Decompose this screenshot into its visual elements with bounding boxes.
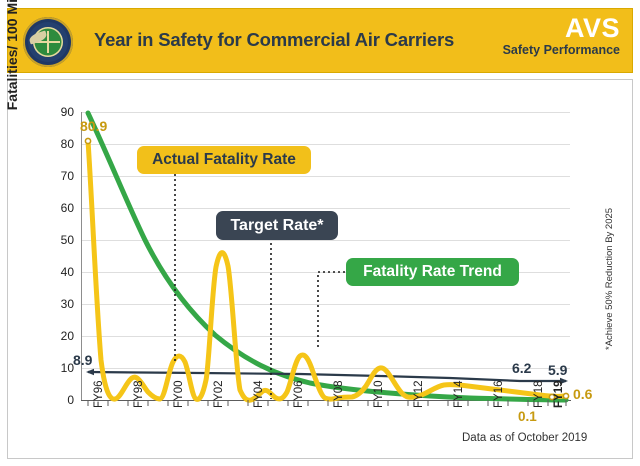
y-tick-label: 60 [44, 201, 74, 215]
x-tick-label-fy98: FY98 [133, 381, 145, 409]
chart-page: Year in Safety for Commercial Air Carrie… [0, 0, 640, 466]
x-tick-label-fy02: FY02 [213, 381, 225, 409]
y-tick-label: 90 [44, 105, 74, 119]
legend-chip-actual-fatality-rate[interactable]: Actual Fatality Rate [137, 146, 311, 174]
data-label-5-9: 5.9 [548, 362, 567, 378]
y-axis-title: Fatalities/ 100 Million Persons on Board [4, 0, 20, 118]
x-tick-label-fy00: FY00 [173, 381, 185, 409]
y-tick-label: 20 [44, 329, 74, 343]
right-footnote: *Achieve 50% Reduction By 2025 [604, 135, 615, 350]
avs-acronym: AVS [440, 13, 620, 43]
data-label-0-1: 0.1 [518, 409, 537, 424]
x-tick-label-fy06: FY06 [293, 381, 305, 409]
gridline [82, 240, 570, 241]
header-band: Year in Safety for Commercial Air Carrie… [7, 8, 633, 73]
gridline [82, 304, 570, 305]
data-label-8-9: 8.9 [73, 352, 92, 368]
x-tick-label-fy10: FY10 [373, 381, 385, 409]
gridline [82, 144, 570, 145]
page-title: Year in Safety for Commercial Air Carrie… [94, 29, 454, 51]
y-tick-label: 50 [44, 233, 74, 247]
gridline [82, 208, 570, 209]
y-tick-label: 70 [44, 169, 74, 183]
y-tick-label: 0 [44, 393, 74, 407]
avs-tagline: Safety Performance [440, 43, 620, 58]
x-tick-label-fy04: FY04 [253, 381, 265, 409]
data-label-80-9: 80.9 [80, 118, 107, 134]
gridline [82, 336, 570, 337]
gridline [82, 176, 570, 177]
y-tick-label: 40 [44, 265, 74, 279]
x-tick-label-fy16: FY16 [493, 381, 505, 409]
legend-chip-target-rate[interactable]: Target Rate* [216, 211, 338, 240]
y-tick-label: 10 [44, 361, 74, 375]
x-tick-label-fy14: FY14 [453, 381, 465, 409]
x-tick-label-fy19: FY19 [553, 381, 565, 409]
y-tick-label: 30 [44, 297, 74, 311]
data-label-6-2: 6.2 [512, 360, 531, 376]
x-tick-label-fy18: FY18 [533, 381, 545, 409]
gridline [82, 368, 570, 369]
x-tick-label-fy12: FY12 [413, 381, 425, 409]
data-label-0-6: 0.6 [573, 386, 592, 402]
legend-chip-fatality-rate-trend[interactable]: Fatality Rate Trend [346, 258, 519, 286]
faa-seal-icon [23, 17, 73, 67]
x-tick-label-fy96: FY96 [93, 381, 105, 409]
avs-logo: AVS Safety Performance [440, 13, 620, 58]
x-tick-label-fy08: FY08 [333, 381, 345, 409]
gridline [82, 112, 570, 113]
source-note: Data as of October 2019 [462, 432, 587, 444]
y-tick-label: 80 [44, 137, 74, 151]
